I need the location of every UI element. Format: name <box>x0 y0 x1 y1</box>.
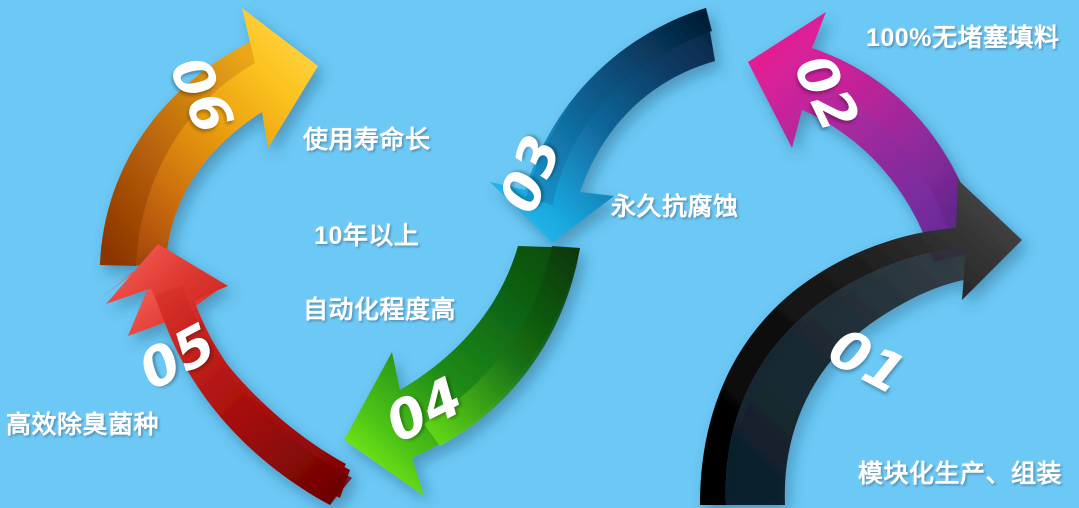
infographic-canvas: 06 03 02 04 05 01 使用寿命长 10年以上 永久抗腐蚀 100%… <box>0 0 1079 508</box>
arrow-step-03[interactable] <box>490 8 715 243</box>
arrow-step-06[interactable] <box>100 8 318 266</box>
arrow-step-01-inner-shade <box>726 248 966 505</box>
arrows-svg-layer <box>0 0 1079 508</box>
arrow-step-05[interactable] <box>98 244 352 505</box>
arrow-step-01[interactable] <box>700 180 1022 505</box>
arrow-step-02[interactable] <box>748 12 985 262</box>
arrow-step-04[interactable] <box>344 246 580 496</box>
